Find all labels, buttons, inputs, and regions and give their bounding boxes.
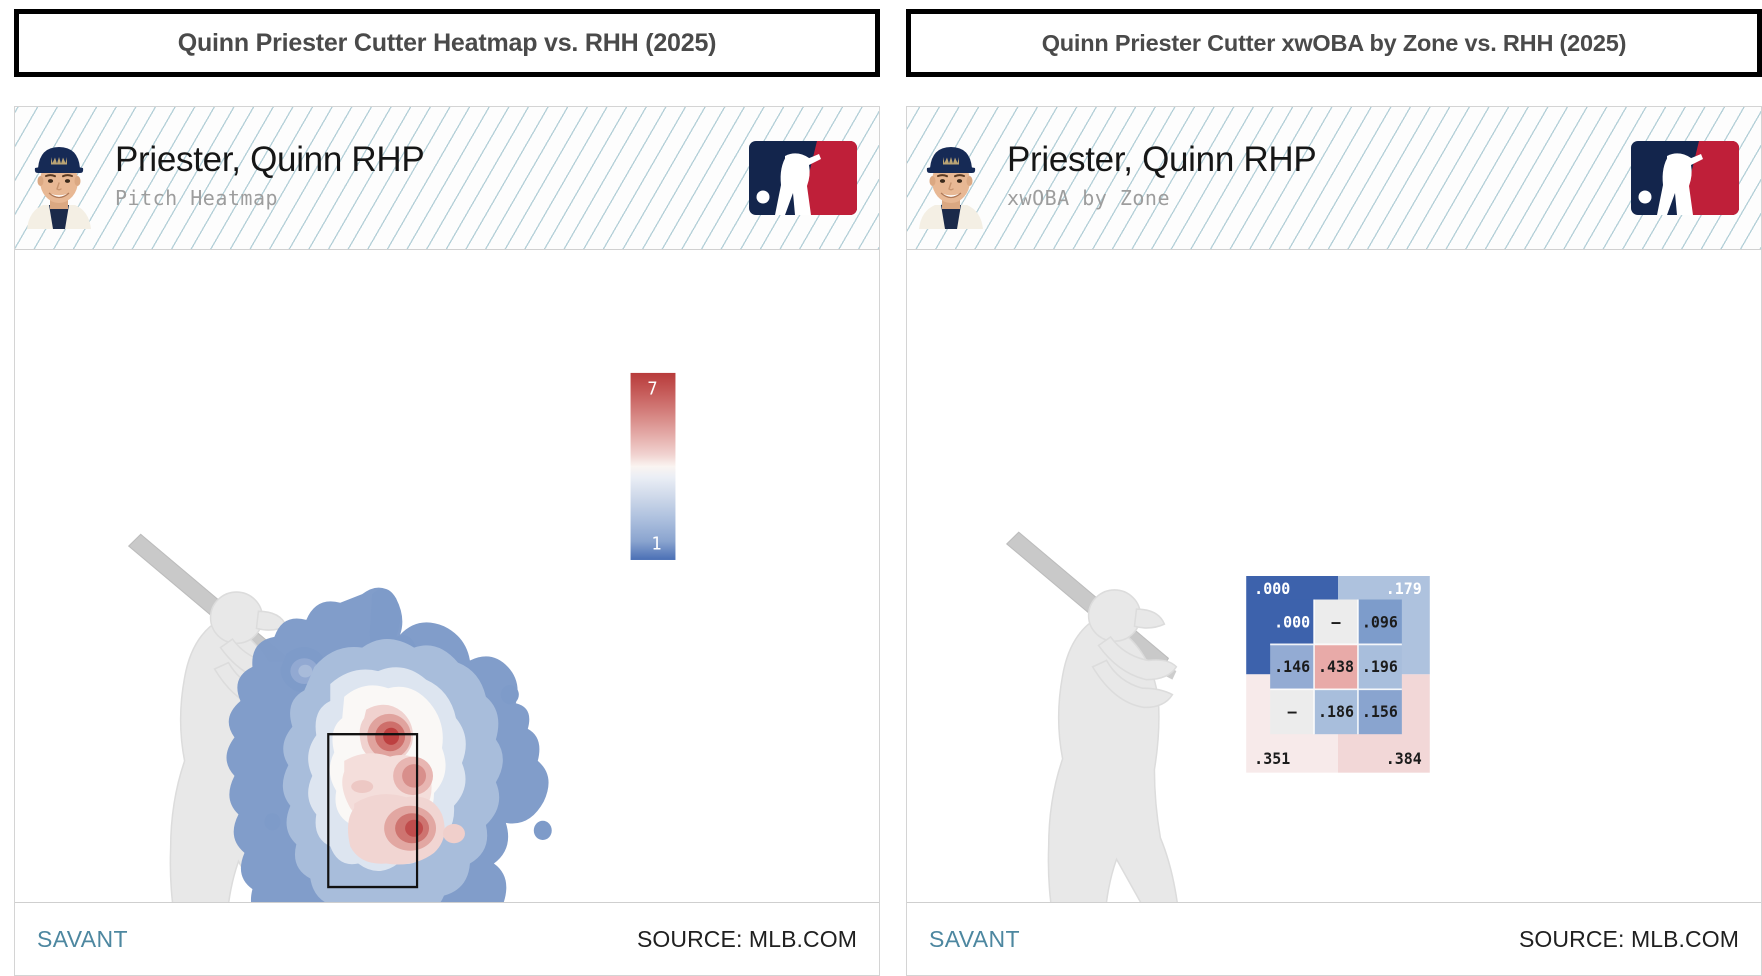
legend-max-label: 7 xyxy=(647,379,657,400)
mlb-logo xyxy=(749,141,857,215)
source-label: SOURCE: MLB.COM xyxy=(637,926,857,953)
card-subtitle: Pitch Heatmap xyxy=(115,186,749,210)
xwoba-zone-plot: .000 .179 .351 .384 .000 — xyxy=(907,250,1761,902)
zone-cell-1-value: .000 xyxy=(1274,613,1310,632)
zone-cell-9-value: .156 xyxy=(1362,703,1398,722)
xwoba-header-names: Priester, Quinn RHP xwOBA by Zone xyxy=(1007,142,1631,214)
page-root: Quinn Priester Cutter Heatmap vs. RHH (2… xyxy=(0,0,1762,976)
xwoba-title-box: Quinn Priester Cutter xwOBA by Zone vs. … xyxy=(906,9,1762,77)
heatmap-card-header: Priester, Quinn RHP Pitch Heatmap xyxy=(15,107,879,250)
zone-cell-6-value: .196 xyxy=(1362,658,1398,677)
zone-cell-4-value: .146 xyxy=(1274,658,1310,677)
player-headshot xyxy=(21,127,97,229)
savant-brand[interactable]: SAVANT xyxy=(37,926,128,953)
heatmap-header-names: Priester, Quinn RHP Pitch Heatmap xyxy=(115,142,749,214)
savant-brand[interactable]: SAVANT xyxy=(929,926,1020,953)
xwoba-column: Quinn Priester Cutter xwOBA by Zone vs. … xyxy=(906,0,1762,976)
heatmap-card: Priester, Quinn RHP Pitch Heatmap xyxy=(14,106,880,976)
shadow-zone-bottom-left-value: .351 xyxy=(1254,750,1290,769)
heatmap-color-legend: 7 1 xyxy=(631,373,676,560)
zone-cell-3-value: .096 xyxy=(1362,613,1398,632)
shadow-zone-bottom-right-value: .384 xyxy=(1386,750,1422,769)
card-subtitle: xwOBA by Zone xyxy=(1007,186,1631,210)
source-label: SOURCE: MLB.COM xyxy=(1519,926,1739,953)
zone-cell-5-value: .438 xyxy=(1318,658,1354,677)
heatmap-contours xyxy=(227,588,552,902)
xwoba-card-header: Priester, Quinn RHP xwOBA by Zone xyxy=(907,107,1761,250)
heatmap-card-footer: SAVANT SOURCE: MLB.COM xyxy=(15,903,879,975)
heatmap-plot-area: 7 1 xyxy=(15,250,879,903)
zone-cell-2-value: — xyxy=(1331,613,1341,632)
xwoba-title: Quinn Priester Cutter xwOBA by Zone vs. … xyxy=(1042,30,1627,57)
xwoba-card-footer: SAVANT SOURCE: MLB.COM xyxy=(907,903,1761,975)
heatmap-title-box: Quinn Priester Cutter Heatmap vs. RHH (2… xyxy=(14,9,880,77)
zone-cell-7-value: — xyxy=(1288,703,1298,722)
legend-min-label: 1 xyxy=(651,534,661,555)
player-name: Priester, Quinn RHP xyxy=(115,142,749,179)
heatmap-title: Quinn Priester Cutter Heatmap vs. RHH (2… xyxy=(178,29,717,58)
shadow-zone-top-right-value: .179 xyxy=(1386,580,1422,599)
player-name: Priester, Quinn RHP xyxy=(1007,142,1631,179)
shadow-zone-top-left-value: .000 xyxy=(1254,580,1290,599)
xwoba-card: Priester, Quinn RHP xwOBA by Zone xyxy=(906,106,1762,976)
batter-silhouette-right xyxy=(1007,532,1182,902)
zone-cell-8-value: .186 xyxy=(1318,703,1354,722)
xwoba-plot-area: .000 .179 .351 .384 .000 — xyxy=(907,250,1761,903)
heatmap-column: Quinn Priester Cutter Heatmap vs. RHH (2… xyxy=(14,0,880,976)
pitch-heatmap-plot: 7 1 xyxy=(15,250,879,902)
mlb-logo xyxy=(1631,141,1739,215)
player-headshot xyxy=(913,127,989,229)
strike-zone-grid: .000 — .096 .146 .438 .196 xyxy=(1270,600,1402,735)
